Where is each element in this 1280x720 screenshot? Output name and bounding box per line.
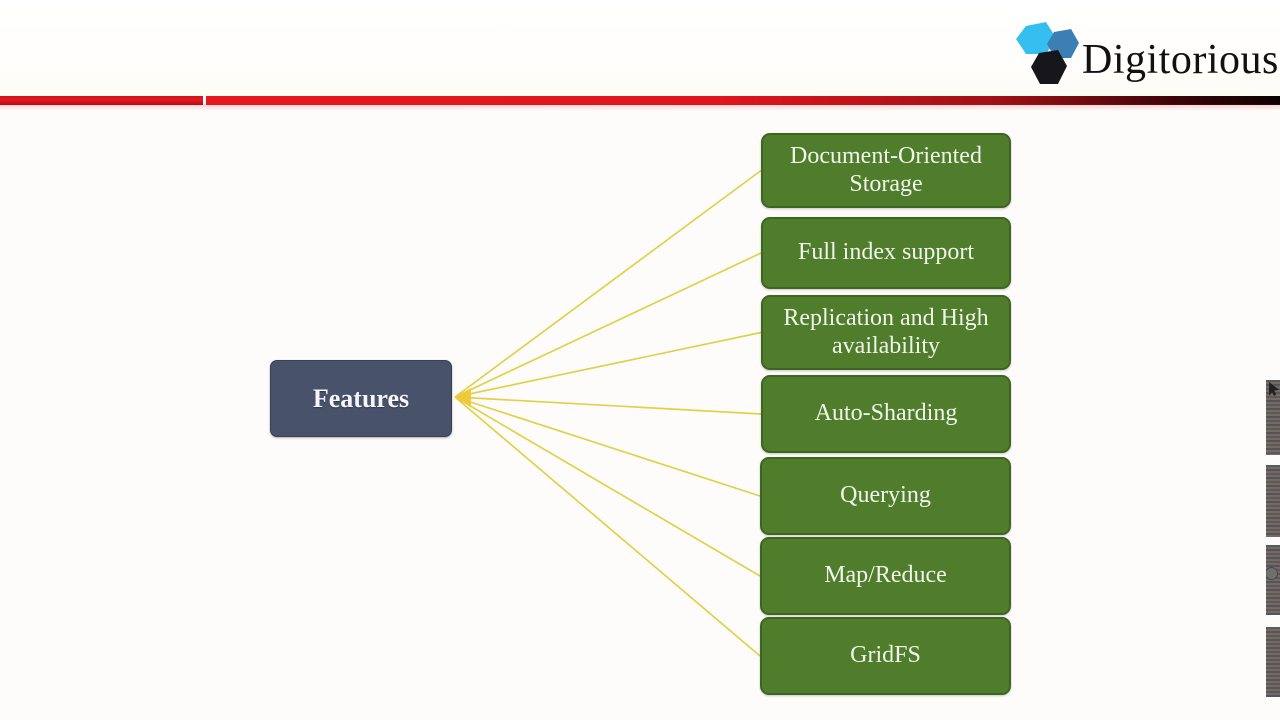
connector-line-2 bbox=[455, 333, 761, 398]
node-label: Querying bbox=[840, 482, 931, 509]
node-label: Full index support bbox=[798, 239, 974, 266]
node-querying[interactable]: Querying bbox=[760, 457, 1011, 535]
features-diagram: Features Document-Oriented Storage Full … bbox=[0, 105, 1280, 720]
node-features-root-label: Features bbox=[313, 384, 409, 414]
arrowhead-icon bbox=[455, 388, 471, 406]
node-label: Replication and High availability bbox=[773, 305, 999, 360]
node-document-oriented-storage[interactable]: Document-Oriented Storage bbox=[761, 133, 1011, 208]
slide-header: Digitorious bbox=[0, 0, 1280, 96]
node-gridfs[interactable]: GridFS bbox=[760, 617, 1011, 695]
side-panel-thumbnail[interactable] bbox=[1266, 545, 1280, 615]
node-label: Auto-Sharding bbox=[815, 400, 958, 427]
node-replication-and-high-availability[interactable]: Replication and High availability bbox=[761, 295, 1011, 370]
connector-line-4 bbox=[455, 397, 760, 496]
connector-line-0 bbox=[455, 171, 761, 398]
node-label: GridFS bbox=[850, 642, 921, 669]
brand-logo-area: Digitorious bbox=[1008, 18, 1280, 92]
connector-line-5 bbox=[455, 397, 760, 576]
connector-line-3 bbox=[455, 397, 761, 414]
connector-line-6 bbox=[455, 397, 760, 656]
node-full-index-support[interactable]: Full index support bbox=[761, 217, 1011, 289]
offscreen-side-panel[interactable] bbox=[1266, 105, 1280, 720]
side-panel-thumbnail[interactable] bbox=[1266, 627, 1280, 697]
node-features-root[interactable]: Features bbox=[270, 360, 452, 437]
node-auto-sharding[interactable]: Auto-Sharding bbox=[761, 375, 1011, 453]
node-label: Map/Reduce bbox=[824, 562, 947, 589]
connector-lines bbox=[0, 105, 1280, 720]
node-map-reduce[interactable]: Map/Reduce bbox=[760, 537, 1011, 615]
node-label: Document-Oriented Storage bbox=[773, 143, 999, 198]
slide-canvas: Digitorious Features Document-Oriented S… bbox=[0, 0, 1280, 720]
brand-name: Digitorious bbox=[1082, 39, 1279, 81]
side-panel-thumbnail[interactable] bbox=[1266, 465, 1280, 537]
connector-line-1 bbox=[455, 253, 761, 397]
digitorious-hexagon-logo bbox=[1008, 20, 1086, 92]
